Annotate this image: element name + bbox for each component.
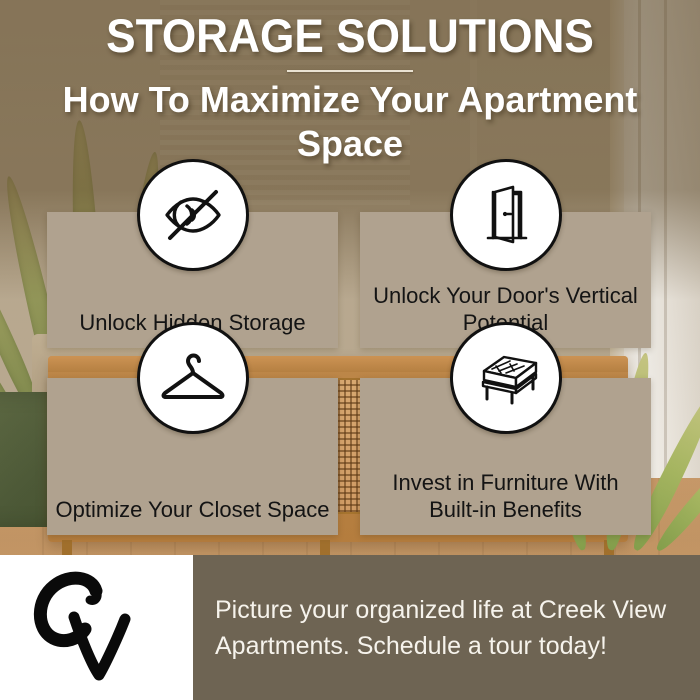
tip-card-builtin-furniture[interactable]: Invest in Furniture With Built-in Benefi…: [360, 378, 651, 535]
tip-card-label: Optimize Your Closet Space: [48, 496, 338, 529]
poster-footer: Picture your organized life at Creek Vie…: [0, 555, 700, 700]
cta-panel[interactable]: Picture your organized life at Creek Vie…: [193, 555, 700, 700]
tips-grid: Unlock Hidden Storage: [47, 212, 651, 535]
tip-card-closet-space[interactable]: Optimize Your Closet Space: [47, 378, 338, 535]
cv-monogram-logo: [22, 569, 172, 687]
logo-panel: [0, 555, 193, 700]
tip-card-label: Invest in Furniture With Built-in Benefi…: [360, 469, 651, 529]
infographic-poster: STORAGE SOLUTIONS How To Maximize Your A…: [0, 0, 700, 700]
storage-bench-icon: [450, 322, 562, 434]
cta-text: Picture your organized life at Creek Vie…: [215, 592, 674, 664]
open-door-icon: [450, 159, 562, 271]
clothes-hanger-icon: [137, 322, 249, 434]
page-title: STORAGE SOLUTIONS: [21, 10, 679, 62]
eye-slash-icon: [137, 159, 249, 271]
page-subtitle: How To Maximize Your Apartment Space: [0, 78, 700, 166]
poster-header: STORAGE SOLUTIONS How To Maximize Your A…: [0, 10, 700, 166]
title-divider: [287, 70, 413, 72]
